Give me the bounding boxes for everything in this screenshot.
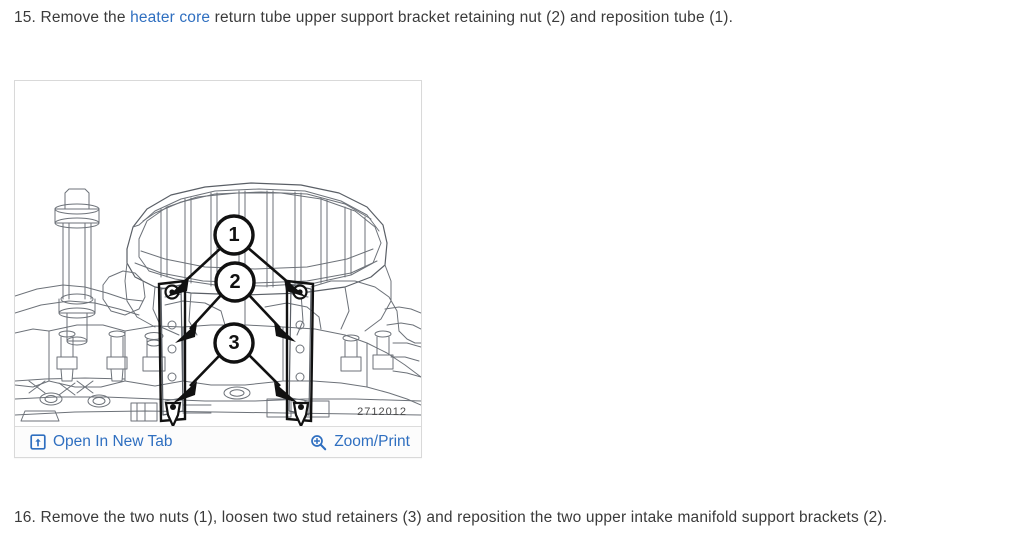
callout-label-1: 1 bbox=[228, 224, 239, 246]
step-16-text: 16. Remove the two nuts (1), loosen two … bbox=[14, 508, 887, 528]
zoom-print-label: Zoom/Print bbox=[334, 433, 410, 451]
step-15-number: 15. bbox=[14, 9, 36, 26]
magnifier-plus-icon bbox=[310, 434, 327, 451]
step-15-text-before: Remove the bbox=[36, 9, 130, 26]
open-in-new-tab-icon bbox=[29, 434, 46, 451]
step-15-text: 15. Remove the heater core return tube u… bbox=[14, 8, 733, 28]
heater-core-link[interactable]: heater core bbox=[130, 9, 210, 26]
callout-circles: 1 2 3 bbox=[215, 216, 254, 362]
figure-toolbar: Open In New Tab Zoom/Print bbox=[15, 426, 421, 457]
figure-panel: .ln { fill:none; stroke:#6d7279; stroke-… bbox=[14, 80, 422, 458]
open-in-new-tab-button[interactable]: Open In New Tab bbox=[29, 433, 172, 451]
callout-label-3: 3 bbox=[228, 332, 239, 354]
intake-manifold-diagram: .ln { fill:none; stroke:#6d7279; stroke-… bbox=[15, 81, 421, 426]
zoom-print-button[interactable]: Zoom/Print bbox=[310, 433, 410, 451]
step-15-text-after: return tube upper support bracket retain… bbox=[210, 9, 733, 26]
figure-image-area[interactable]: .ln { fill:none; stroke:#6d7279; stroke-… bbox=[15, 81, 421, 426]
open-in-new-tab-label: Open In New Tab bbox=[53, 433, 172, 451]
callout-label-2: 2 bbox=[229, 271, 240, 293]
figure-image-id: 2712012 bbox=[357, 406, 407, 418]
